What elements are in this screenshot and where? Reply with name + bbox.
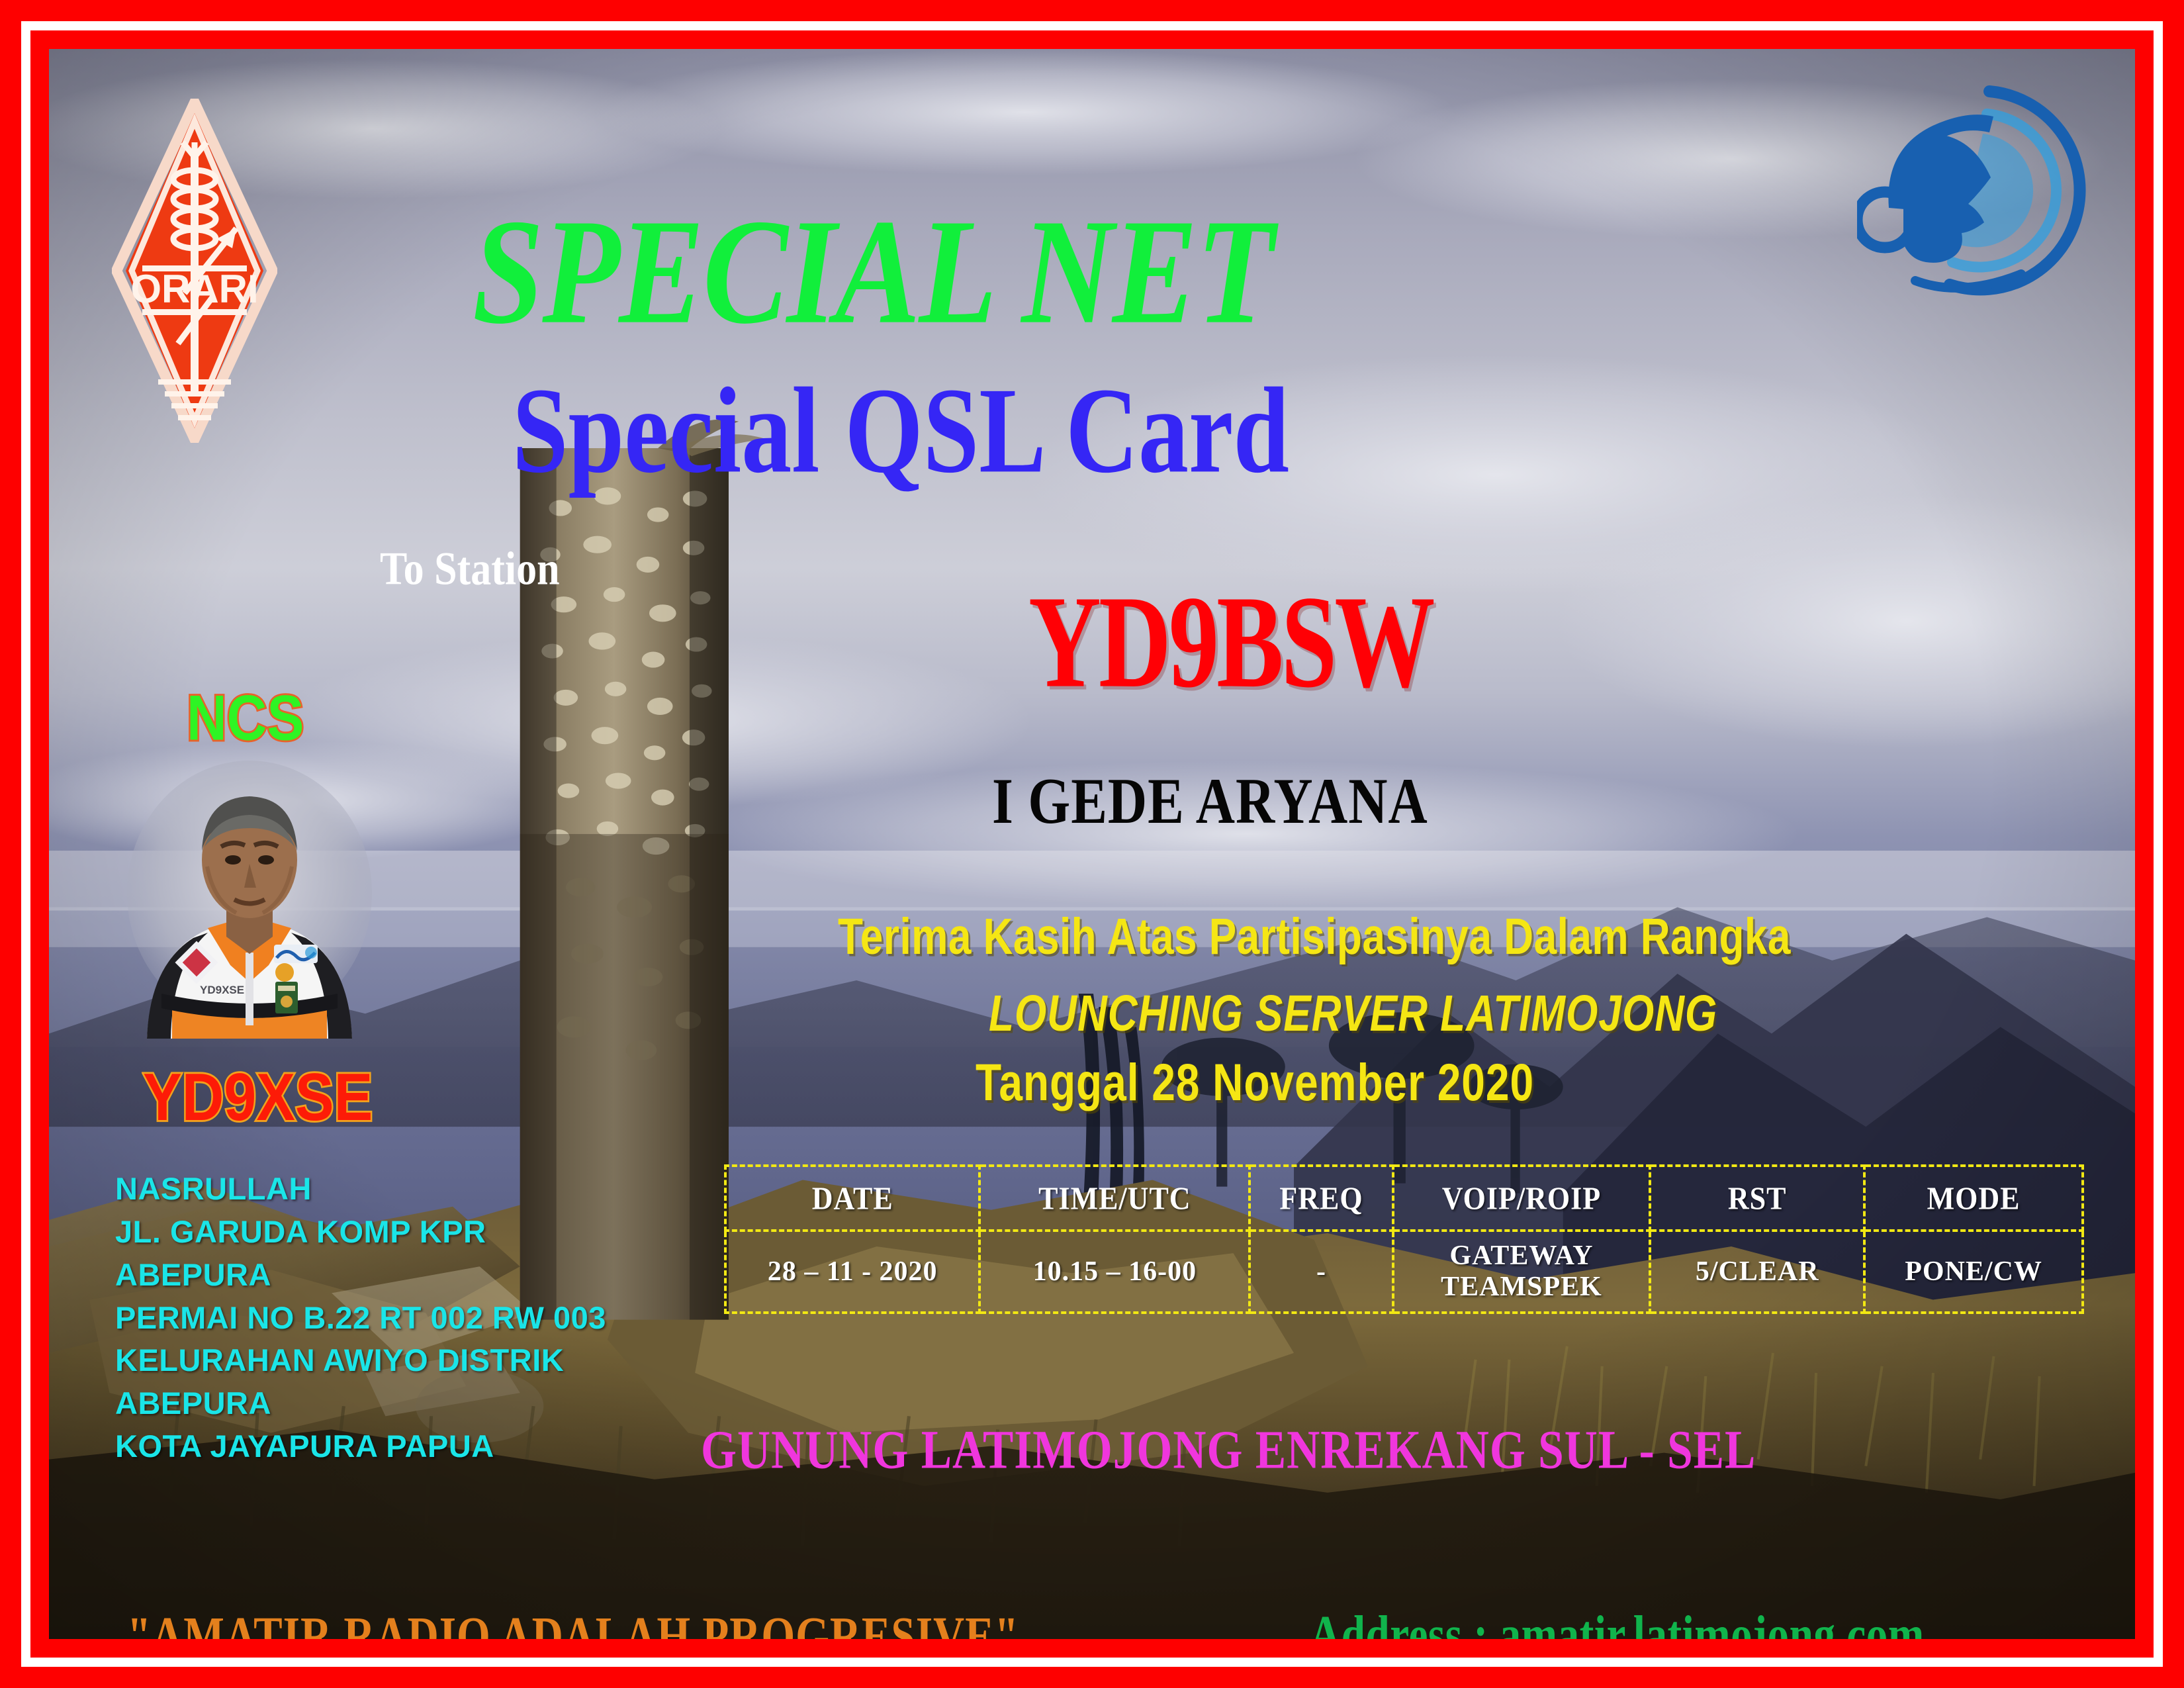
- ncs-callsign: YD9XSE: [143, 1058, 373, 1136]
- column-header-rst: RST: [1650, 1162, 1864, 1234]
- background-photo: ORARI: [49, 49, 2135, 1639]
- table-header-row: DATE TIME/UTC FREQ VOIP/ROIP RST MODE: [725, 1166, 2083, 1231]
- column-header-mode: MODE: [1864, 1162, 2083, 1234]
- motto-text: "AMATIR RADIO ADALAH PROGRESIVE": [127, 1605, 1019, 1639]
- event-date-line: Tanggal 28 November 2020: [976, 1052, 1534, 1112]
- to-station-label: To Station: [380, 542, 560, 596]
- page-title-special-net: SPECIAL NET: [473, 185, 1273, 358]
- ncs-label: NCS: [187, 681, 304, 755]
- orari-diamond-icon: ORARI: [112, 99, 277, 443]
- event-line: LOUNCHING SERVER LATIMOJONG: [989, 984, 1717, 1043]
- ncs-operator-portrait: YD9XSE: [120, 761, 379, 1039]
- thanks-line: Terima Kasih Atas Partisipasinya Dalam R…: [838, 907, 1791, 966]
- cell-voip-roip: GATEWAY TEAMSPEK: [1393, 1231, 1651, 1313]
- table-row: 28 – 11 - 2020 10.15 – 16-00 - GATEWAY T…: [725, 1231, 2083, 1313]
- address-line: KOTA JAYAPURA PAPUA: [115, 1425, 606, 1468]
- mailing-address-block: NASRULLAH JL. GARUDA KOMP KPR ABEPURA PE…: [115, 1168, 606, 1468]
- cell-date: 28 – 11 - 2020: [725, 1231, 979, 1313]
- orari-logo: ORARI: [112, 99, 277, 443]
- operator-photo: YD9XSE: [120, 761, 379, 1039]
- location-line: GUNUNG LATIMOJONG ENREKANG SUL - SEL: [701, 1418, 1756, 1481]
- address-line: PERMAI NO B.22 RT 002 RW 003: [115, 1297, 606, 1340]
- station-callsign: YD9BSW: [1028, 565, 1433, 718]
- cell-rst: 5/CLEAR: [1650, 1231, 1864, 1313]
- column-header-time-utc: TIME/UTC: [979, 1162, 1250, 1234]
- cell-time-utc: 10.15 – 16-00: [979, 1231, 1250, 1313]
- qsl-card-outer-frame: ORARI: [0, 0, 2184, 1688]
- qso-log-table: DATE TIME/UTC FREQ VOIP/ROIP RST MODE 28…: [724, 1164, 2084, 1314]
- address-line: JL. GARUDA KOMP KPR: [115, 1211, 606, 1254]
- qsl-card-inner-frame: ORARI: [30, 30, 2154, 1658]
- web-address-text: Address : amatir.latimojong.com: [1310, 1603, 1925, 1639]
- headset-face-icon: [1857, 82, 2089, 301]
- column-header-voip-roip: VOIP/ROIP: [1393, 1162, 1651, 1234]
- address-line: NASRULLAH: [115, 1168, 606, 1211]
- qsl-card-white-gap: ORARI: [21, 21, 2163, 1667]
- voip-headset-logo: [1857, 82, 2089, 301]
- address-line: KELURAHAN AWIYO DISTRIK: [115, 1339, 606, 1382]
- column-header-date: DATE: [725, 1162, 979, 1234]
- operator-name: I GEDE ARYANA: [992, 764, 1428, 839]
- column-header-freq: FREQ: [1250, 1162, 1392, 1234]
- orari-wordmark: ORARI: [130, 267, 258, 311]
- address-line: ABEPURA: [115, 1254, 606, 1297]
- cell-mode: PONE/CW: [1864, 1231, 2083, 1313]
- shirt-callsign-text: YD9XSE: [200, 984, 244, 996]
- cell-freq: -: [1250, 1231, 1392, 1313]
- address-line: ABEPURA: [115, 1382, 606, 1425]
- subtitle-special-qsl-card: Special QSL Card: [512, 360, 1289, 500]
